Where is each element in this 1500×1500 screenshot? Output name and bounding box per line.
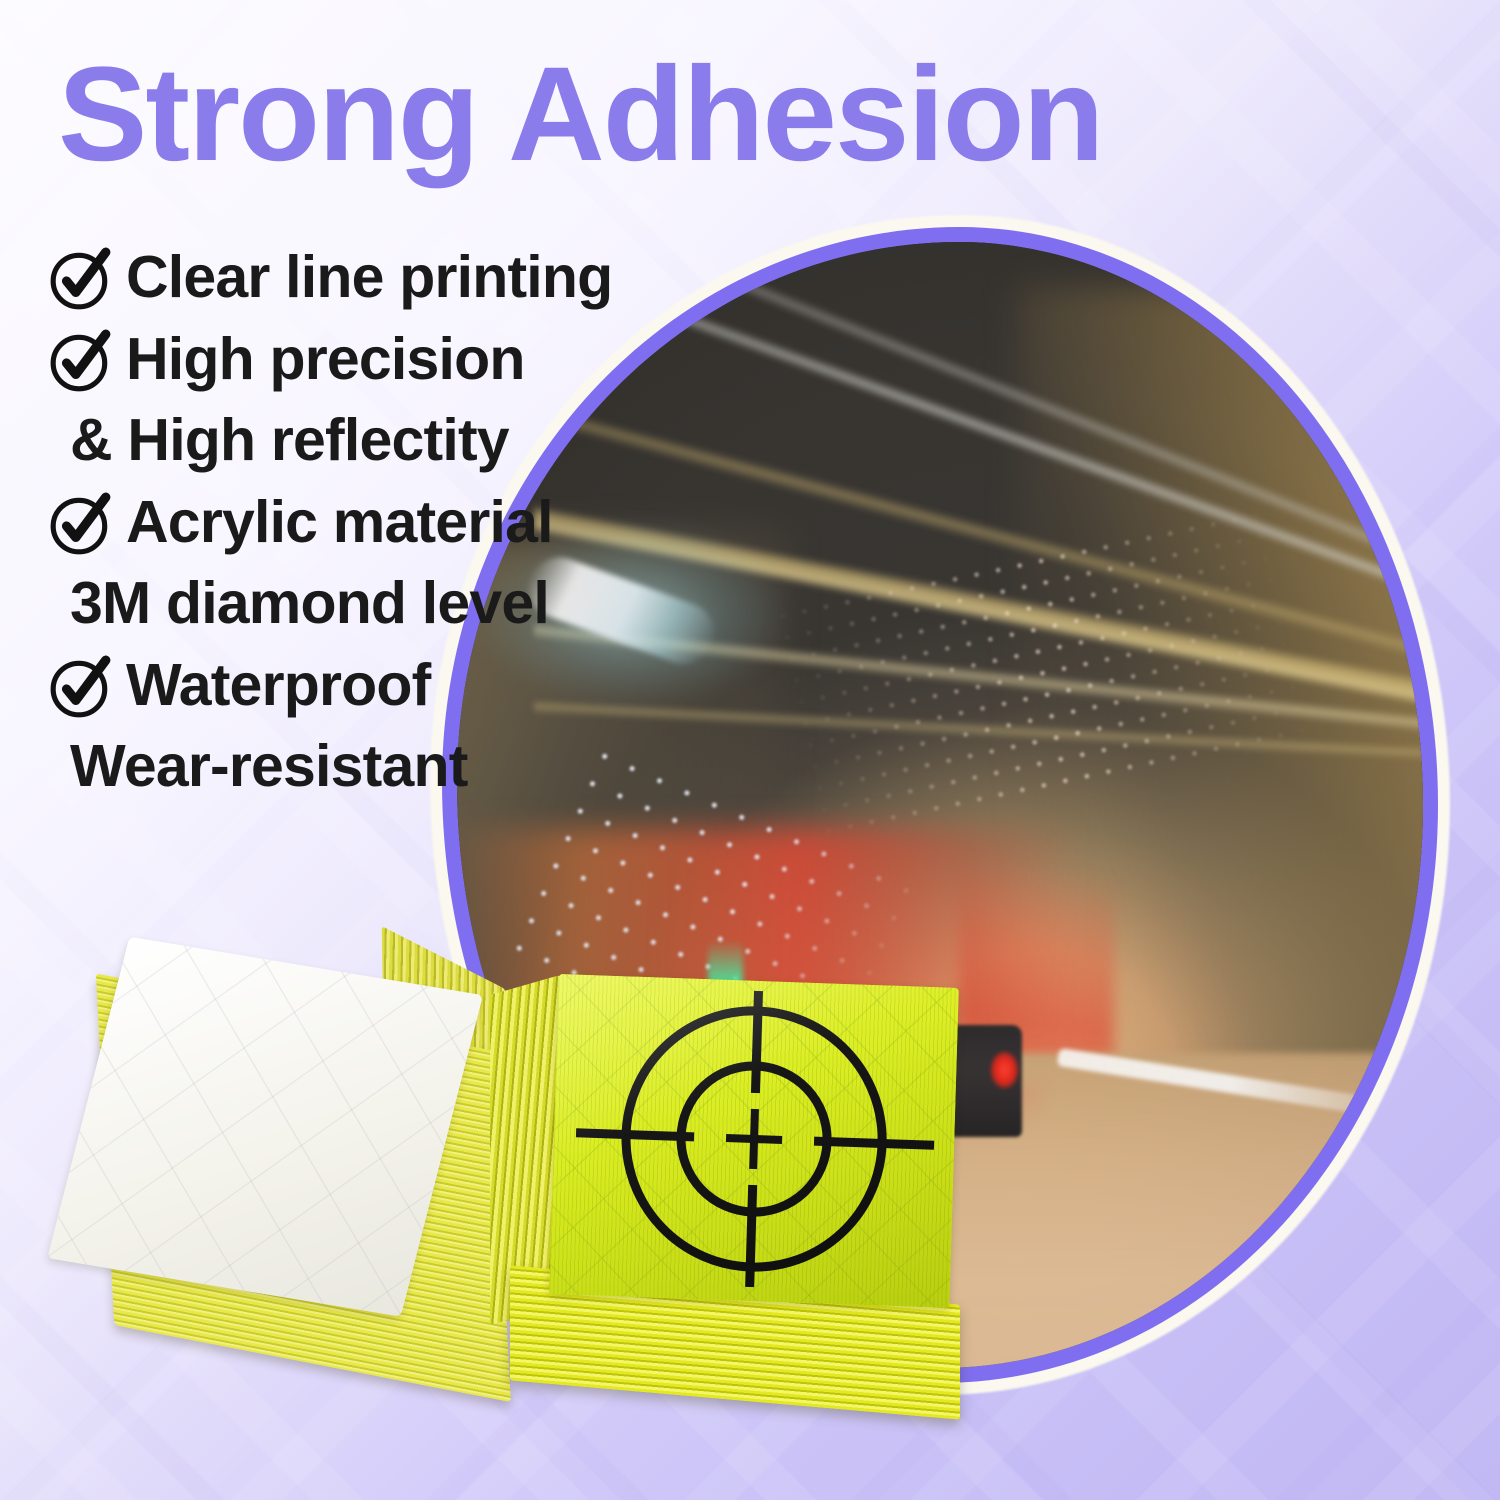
list-item-label: Acrylic material — [126, 485, 553, 561]
list-item-label: High precision — [126, 322, 525, 398]
list-item-sublabel: Wear-resistant — [48, 729, 808, 805]
list-item-label: Clear line printing — [126, 240, 612, 316]
check-circle-icon — [48, 246, 114, 312]
list-item: Waterproof — [48, 648, 808, 724]
check-circle-icon — [48, 654, 114, 720]
yellow-reflective-target-sticker-stack — [496, 985, 966, 1415]
white-reflective-sticker-stack — [77, 941, 518, 1382]
page-title: Strong Adhesion — [58, 48, 1102, 182]
yellow-sticker-top-face — [549, 974, 959, 1308]
list-item-sublabel: 3M diamond level — [48, 566, 808, 642]
check-circle-icon — [48, 328, 114, 394]
list-item: Clear line printing — [48, 240, 808, 316]
sticker-specular-shine — [549, 974, 959, 1308]
feature-list: Clear line printing High precision & Hig… — [48, 240, 808, 811]
list-item-sublabel: & High reflectity — [48, 403, 808, 479]
list-item: Acrylic material — [48, 485, 808, 561]
list-item: High precision — [48, 322, 808, 398]
check-circle-icon — [48, 491, 114, 557]
list-item-label: Waterproof — [126, 648, 430, 724]
